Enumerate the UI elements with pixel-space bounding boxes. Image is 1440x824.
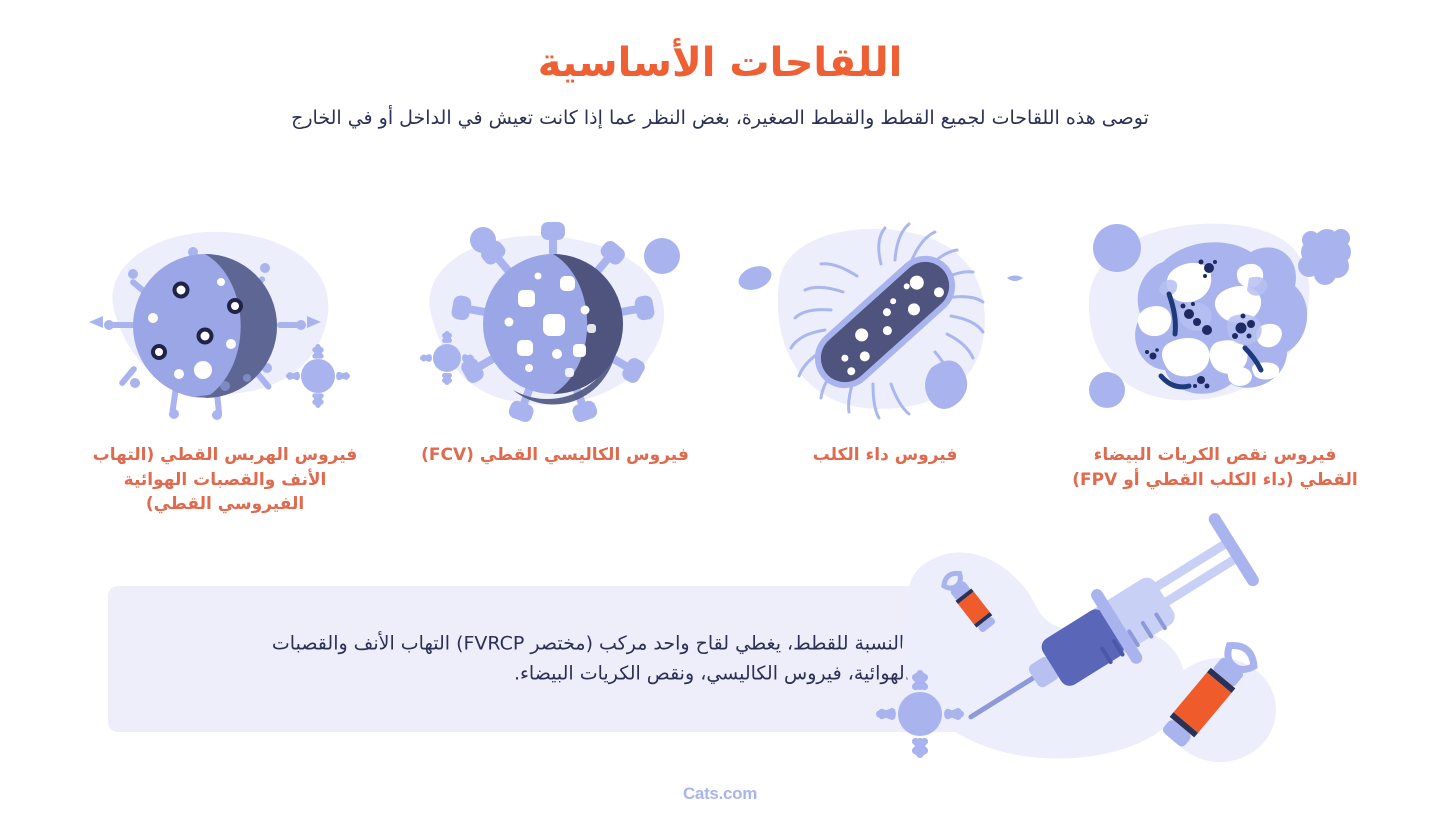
page-title: اللقاحات الأساسية — [0, 38, 1440, 88]
virus-card-row: فيروس الهربس القطي (التهاب الأنف والقصبا… — [0, 218, 1440, 548]
virus-card-feline-herpesvirus: فيروس الهربس القطي (التهاب الأنف والقصبا… — [60, 218, 390, 517]
syringe-vials-icon — [868, 528, 1288, 776]
virus-label-feline-panleukopenia: فيروس نقص الكريات البيضاء القطي (داء الك… — [1070, 443, 1360, 492]
callout-text: بالنسبة للقطط، يغطي لقاح واحد مركب (مختص… — [238, 629, 910, 690]
virus-card-feline-panleukopenia: فيروس نقص الكريات البيضاء القطي (داء الك… — [1050, 218, 1380, 492]
corona-virus-icon — [405, 218, 705, 433]
virus-card-feline-calicivirus: فيروس الكاليسي القطي (FCV) — [390, 218, 720, 468]
header: اللقاحات الأساسية توصى هذه اللقاحات لجمي… — [0, 38, 1440, 133]
rod-bacterium-icon — [735, 218, 1035, 433]
spiky-virus-icon — [75, 218, 375, 433]
page-subtitle: توصى هذه اللقاحات لجميع القطط والقطط الص… — [0, 104, 1440, 133]
brand-logo: Cats.com — [683, 784, 757, 804]
virus-label-rabies-virus: فيروس داء الكلب — [740, 443, 1030, 468]
virus-label-feline-calicivirus: فيروس الكاليسي القطي (FCV) — [410, 443, 700, 468]
cell-blob-icon — [1065, 218, 1365, 433]
callout-box: بالنسبة للقطط، يغطي لقاح واحد مركب (مختص… — [108, 586, 966, 732]
infographic-page: اللقاحات الأساسية توصى هذه اللقاحات لجمي… — [0, 0, 1440, 824]
virus-card-rabies-virus: فيروس داء الكلب — [720, 218, 1050, 468]
footer: Cats.com — [0, 784, 1440, 804]
virus-label-feline-herpesvirus: فيروس الهربس القطي (التهاب الأنف والقصبا… — [80, 443, 370, 517]
